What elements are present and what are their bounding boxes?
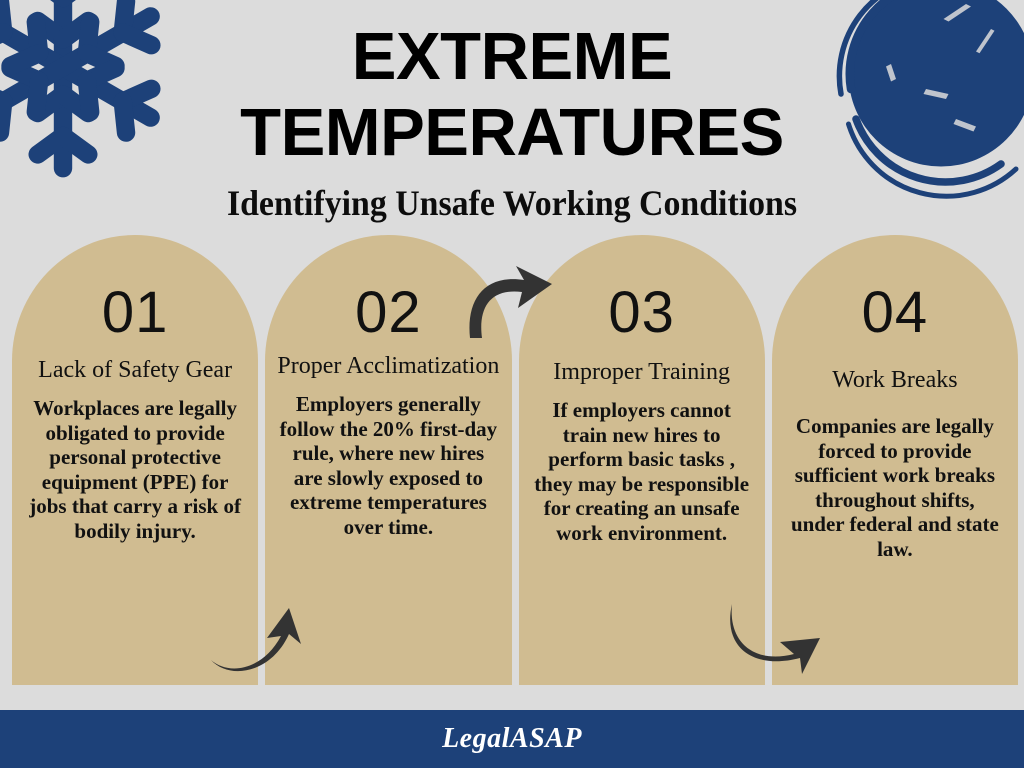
step-card-01: 01 Lack of Safety Gear Workplaces are le…: [12, 235, 258, 685]
step-card-02: 02 Proper Acclimatization Employers gene…: [265, 235, 511, 685]
step-card-03: 03 Improper Training If employers cannot…: [519, 235, 765, 685]
step-number: 03: [529, 283, 755, 343]
page-subtitle: Identifying Unsafe Working Conditions: [31, 182, 994, 224]
step-number: 04: [782, 283, 1008, 343]
step-body: Workplaces are legally obligated to prov…: [22, 396, 248, 543]
brand-logo-text: LegalASAP: [442, 723, 582, 755]
page-title-line-1: EXTREME: [0, 0, 1024, 94]
step-heading: Work Breaks: [782, 367, 1008, 394]
page-title-line-2: TEMPERATURES: [0, 96, 1024, 170]
step-number: 02: [275, 283, 501, 343]
step-number: 01: [22, 283, 248, 343]
step-body: Employers generally follow the 20% first…: [275, 392, 501, 539]
steps-row: 01 Lack of Safety Gear Workplaces are le…: [12, 235, 1018, 685]
infographic-poster: EXTREME TEMPERATURES Identifying Unsafe …: [0, 0, 1024, 768]
step-heading: Improper Training: [529, 359, 755, 386]
step-heading: Lack of Safety Gear: [22, 357, 248, 384]
step-heading: Proper Acclimatization: [275, 353, 501, 380]
step-body: If employers cannot train new hires to p…: [529, 398, 755, 545]
footer-bar: LegalASAP: [0, 710, 1024, 768]
poster-header: EXTREME TEMPERATURES Identifying Unsafe …: [0, 0, 1024, 232]
step-card-04: 04 Work Breaks Companies are legally for…: [772, 235, 1018, 685]
step-body: Companies are legally forced to provide …: [782, 414, 1008, 561]
